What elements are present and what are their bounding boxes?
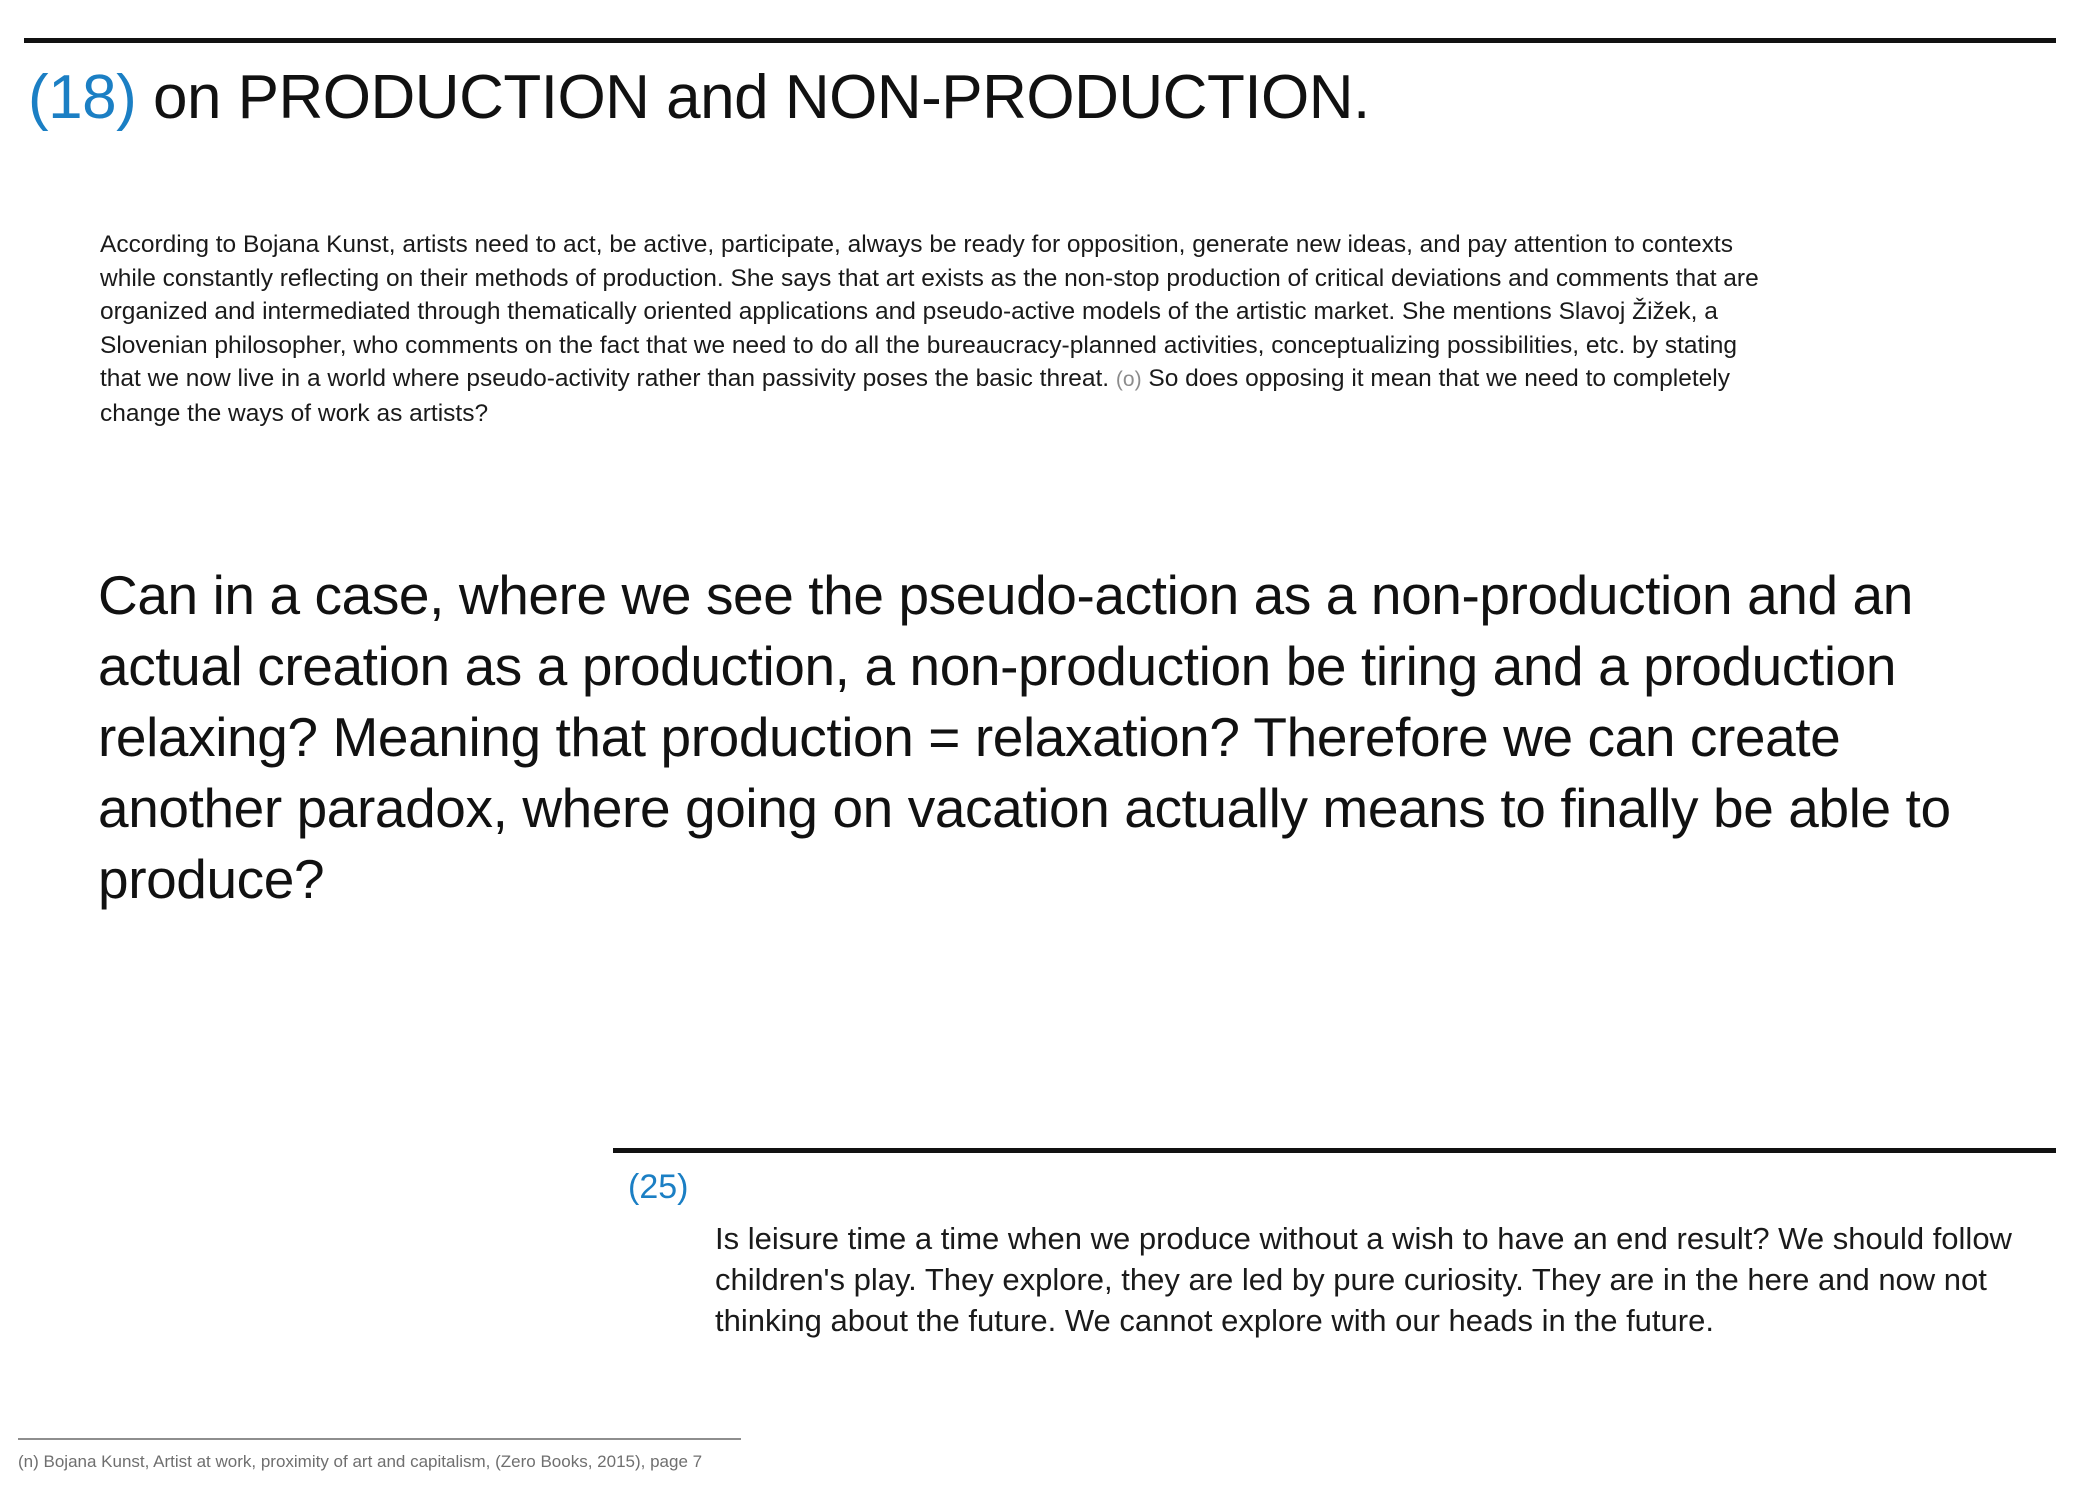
page-title: (18) on PRODUCTION and NON-PRODUCTION.: [28, 62, 2028, 133]
page-title-number: (18): [28, 63, 136, 132]
top-divider-rule: [24, 38, 2056, 43]
statement-text: Can in a case, where we see the pseudo-a…: [98, 560, 1968, 915]
intro-paragraph: According to Bojana Kunst, artists need …: [100, 228, 1780, 430]
footnote-text: (n) Bojana Kunst, Artist at work, proxim…: [18, 1450, 1118, 1473]
footnote-divider-rule: [18, 1438, 741, 1440]
quote-text: Is leisure time a time when we produce w…: [715, 1218, 2060, 1341]
quote-divider-rule: [613, 1148, 2056, 1153]
page-title-text: on PRODUCTION and NON-PRODUCTION.: [136, 63, 1370, 132]
quote-number: (25): [628, 1168, 688, 1207]
slide-page: { "colors": { "accent_blue": "#1b7fc4", …: [0, 0, 2080, 1490]
citation-marker-o: (o): [1116, 368, 1142, 391]
